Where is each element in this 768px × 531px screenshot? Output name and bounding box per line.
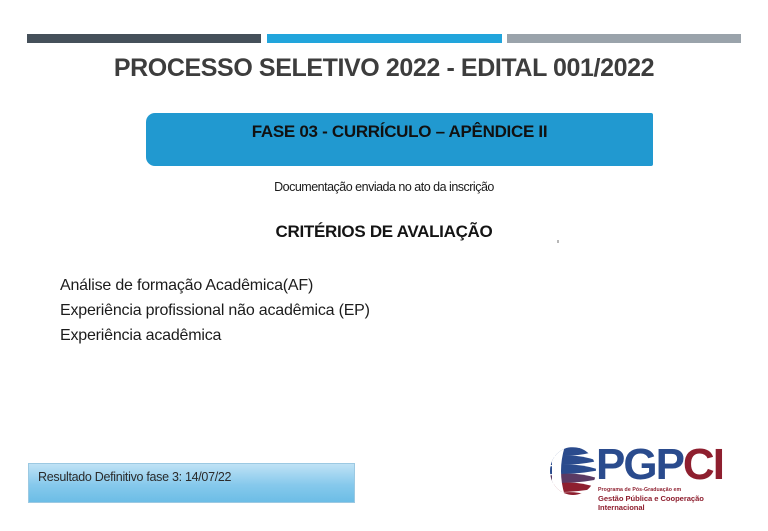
header-bar-blue	[267, 34, 502, 43]
header-bar-gray	[507, 34, 741, 43]
logo-wordmark: PGPCI	[596, 439, 723, 491]
result-callout-label: Resultado Definitivo fase 3: 14/07/22	[38, 470, 231, 484]
slide-canvas: PROCESSO SELETIVO 2022 - EDITAL 001/2022…	[0, 0, 768, 531]
page-title: PROCESSO SELETIVO 2022 - EDITAL 001/2022	[0, 54, 768, 83]
logo-word-accent: CI	[683, 440, 723, 489]
pgpci-logo: PGPCI Programa de Pós-Graduação em Gestã…	[548, 443, 748, 509]
phase-banner: FASE 03 - CURRÍCULO – APÊNDICE II	[146, 113, 653, 166]
subtitle-text: Documentação enviada no ato da inscrição	[0, 180, 768, 194]
globe-icon	[548, 445, 598, 497]
list-item: Análise de formação Acadêmica(AF)	[60, 273, 560, 298]
logo-tagline: Programa de Pós-Graduação em Gestão Públ…	[598, 487, 748, 512]
list-item: Experiência acadêmica	[60, 323, 560, 348]
logo-tagline-line1: Programa de Pós-Graduação em	[598, 487, 748, 494]
result-callout: Resultado Definitivo fase 3: 14/07/22	[28, 463, 355, 503]
stray-speck	[557, 240, 559, 243]
list-item: Experiência profissional não acadêmica (…	[60, 298, 560, 323]
logo-word-primary: PGP	[596, 440, 683, 489]
logo-tagline-line2: Gestão Pública e Cooperação Internaciona…	[598, 494, 748, 512]
phase-banner-label: FASE 03 - CURRÍCULO – APÊNDICE II	[146, 122, 653, 142]
criteria-heading: CRITÉRIOS DE AVALIAÇÃO	[0, 222, 768, 242]
criteria-list: Análise de formação Acadêmica(AF) Experi…	[60, 273, 560, 348]
header-bar-dark	[27, 34, 261, 43]
